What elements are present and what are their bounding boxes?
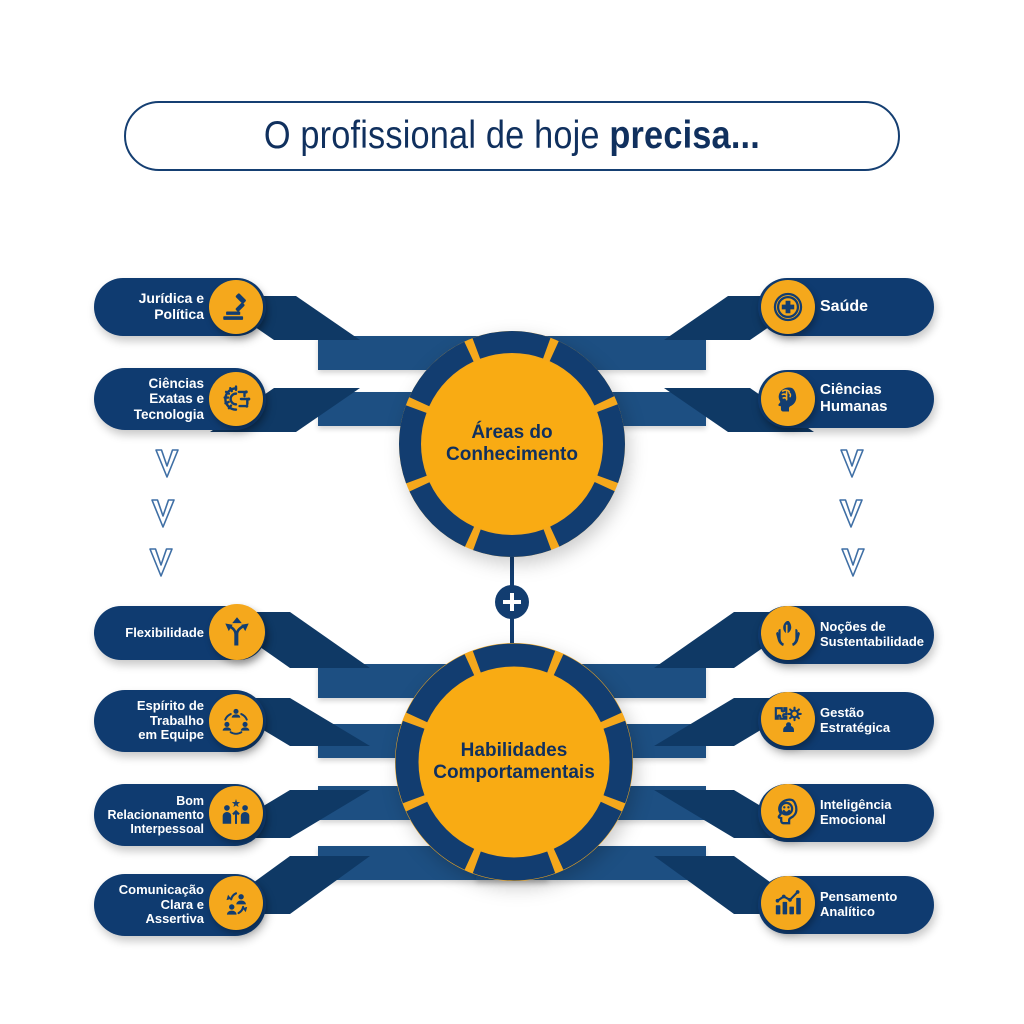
page-title-pill: O profissional de hoje precisa... xyxy=(124,101,900,171)
pill-juridica-politica-label: Jurídica e Política xyxy=(139,291,204,322)
page-title: O profissional de hoje precisa... xyxy=(264,114,760,158)
pill-ciencias-humanas-label: Ciências Humanas xyxy=(820,382,888,416)
medical-cross-icon xyxy=(761,280,815,334)
pill-inteligencia-emocional-label: Inteligência Emocional xyxy=(820,798,892,827)
pill-ciencias-exatas-label: Ciências Exatas e Tecnologia xyxy=(134,376,204,421)
gear-puzzle-icon xyxy=(761,692,815,746)
hub-habilidades-comportamentais[interactable]: Habilidades Comportamentais xyxy=(394,642,634,882)
chevron-down-marker xyxy=(837,447,867,486)
circuit-gear-icon xyxy=(209,372,263,426)
plus-connector xyxy=(495,585,529,619)
branching-arrows-icon xyxy=(209,604,265,660)
hub-ring-graphic xyxy=(398,330,626,558)
bar-chart-icon xyxy=(761,876,815,930)
communication-cycle-icon xyxy=(209,876,263,930)
pill-flexibilidade-label: Flexibilidade xyxy=(125,626,204,641)
pill-espirito-equipe-label: Espírito de Trabalho em Equipe xyxy=(137,699,204,743)
hub-ring-graphic-2 xyxy=(394,642,634,882)
pill-pensamento-analitico-label: Pensamento Analítico xyxy=(820,890,897,919)
teamwork-icon xyxy=(209,694,263,748)
hands-leaf-icon xyxy=(761,606,815,660)
chevron-down-marker xyxy=(152,447,182,486)
chevron-down-marker xyxy=(838,546,868,585)
plus-vertical-bar xyxy=(510,593,514,611)
chevron-down-marker xyxy=(836,497,866,536)
hub-areas-conhecimento[interactable]: Áreas do Conhecimento xyxy=(398,330,626,558)
infographic-canvas: O profissional de hoje precisa... xyxy=(0,0,1024,1024)
pill-saude-label: Saúde xyxy=(820,298,868,316)
pill-gestao-estrategica-label: Gestão Estratégica xyxy=(820,706,890,735)
head-smile-icon xyxy=(761,784,815,838)
page-title-bold: precisa... xyxy=(609,114,760,157)
plus-connector-line-top xyxy=(510,556,514,586)
pill-sustentabilidade-label: Noções de Sustentabilidade xyxy=(820,620,924,649)
chevron-down-marker xyxy=(148,497,178,536)
pill-comunicacao-assertiva-label: Comunicação Clara e Assertiva xyxy=(119,883,204,927)
chevron-down-marker xyxy=(146,546,176,585)
head-brain-icon xyxy=(761,372,815,426)
pill-relacionamento-interpessoal-label: Bom Relacionamento Interpessoal xyxy=(107,794,204,836)
gavel-icon xyxy=(209,280,263,334)
page-title-light: O profissional de hoje xyxy=(264,114,610,157)
handshake-people-icon xyxy=(209,786,263,840)
